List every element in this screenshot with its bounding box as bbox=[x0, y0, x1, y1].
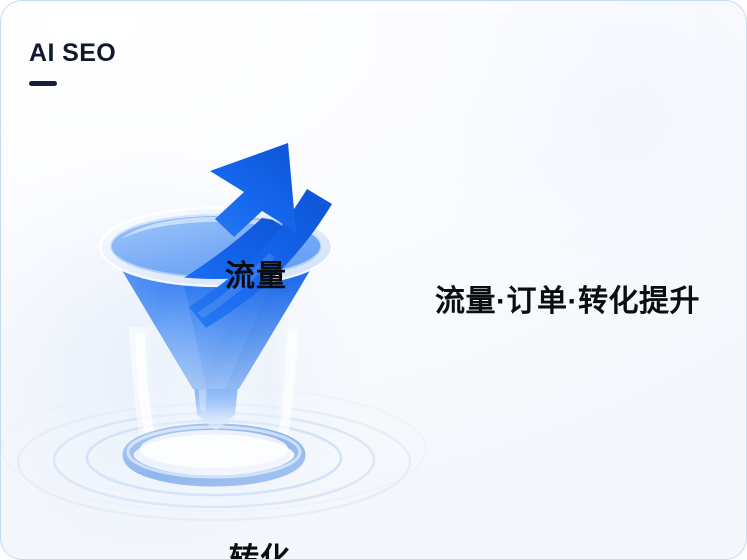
label-conversion: 转化 bbox=[229, 534, 291, 560]
label-traffic: 流量 bbox=[225, 251, 287, 295]
background-glow-right bbox=[426, 0, 747, 311]
header: AI SEO bbox=[29, 39, 116, 86]
title-underline-accent bbox=[29, 81, 57, 86]
page-title: AI SEO bbox=[29, 39, 116, 68]
illustration-card: AI SEO bbox=[0, 0, 747, 560]
funnel-illustration: 流量 转化 bbox=[1, 97, 431, 527]
headline-text: 流量·订单·转化提升 bbox=[435, 276, 700, 320]
